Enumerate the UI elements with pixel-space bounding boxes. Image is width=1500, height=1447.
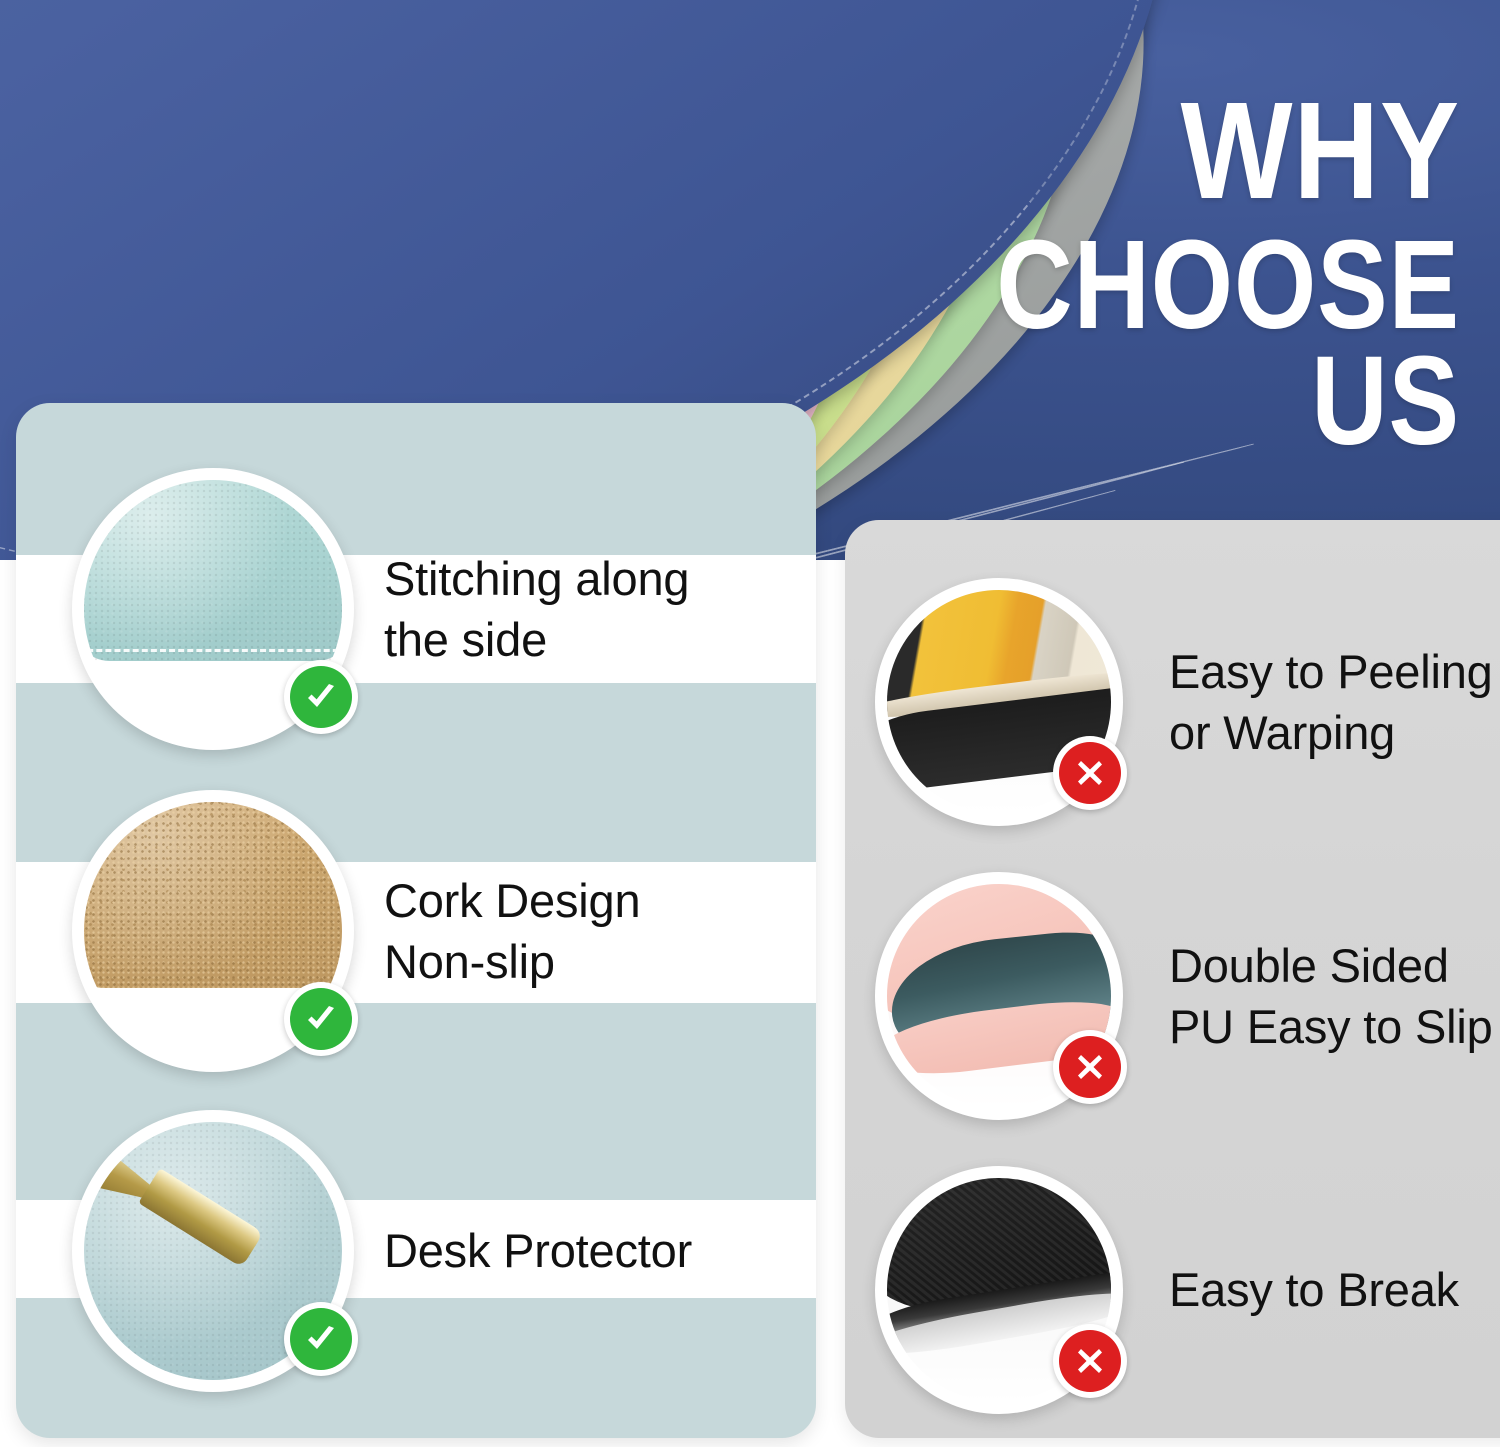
check-icon	[284, 1302, 358, 1376]
cross-icon	[1053, 1030, 1127, 1104]
pros-label-2: Cork Design Non-slip	[384, 870, 640, 992]
cons-thumb-1[interactable]	[875, 578, 1123, 826]
check-icon	[284, 982, 358, 1056]
check-icon	[284, 660, 358, 734]
cons-thumb-3[interactable]	[875, 1166, 1123, 1414]
pros-thumb-3[interactable]	[72, 1110, 354, 1392]
pros-thumb-2[interactable]	[72, 790, 354, 1072]
title-line-2: CHOOSE US	[939, 227, 1460, 459]
pros-label-3: Desk Protector	[384, 1220, 692, 1281]
infographic-root: WHY CHOOSE US Stitching along	[0, 0, 1500, 1447]
cons-item-2[interactable]: Double Sided PU Easy to Slip	[875, 872, 1493, 1120]
cross-icon	[1053, 1324, 1127, 1398]
cons-label-3: Easy to Break	[1169, 1259, 1459, 1320]
pros-item-3[interactable]: Desk Protector	[72, 1110, 692, 1392]
pros-label-1: Stitching along the side	[384, 548, 689, 670]
page-title: WHY CHOOSE US	[840, 88, 1460, 459]
pros-item-2[interactable]: Cork Design Non-slip	[72, 790, 640, 1072]
cons-label-1: Easy to Peeling or Warping	[1169, 641, 1493, 763]
cross-icon	[1053, 736, 1127, 810]
cons-label-2: Double Sided PU Easy to Slip	[1169, 935, 1493, 1057]
pros-item-1[interactable]: Stitching along the side	[72, 468, 689, 750]
pros-thumb-1[interactable]	[72, 468, 354, 750]
cons-thumb-2[interactable]	[875, 872, 1123, 1120]
title-line-1: WHY	[927, 88, 1460, 215]
cons-item-1[interactable]: Easy to Peeling or Warping	[875, 578, 1493, 826]
cons-item-3[interactable]: Easy to Break	[875, 1166, 1459, 1414]
